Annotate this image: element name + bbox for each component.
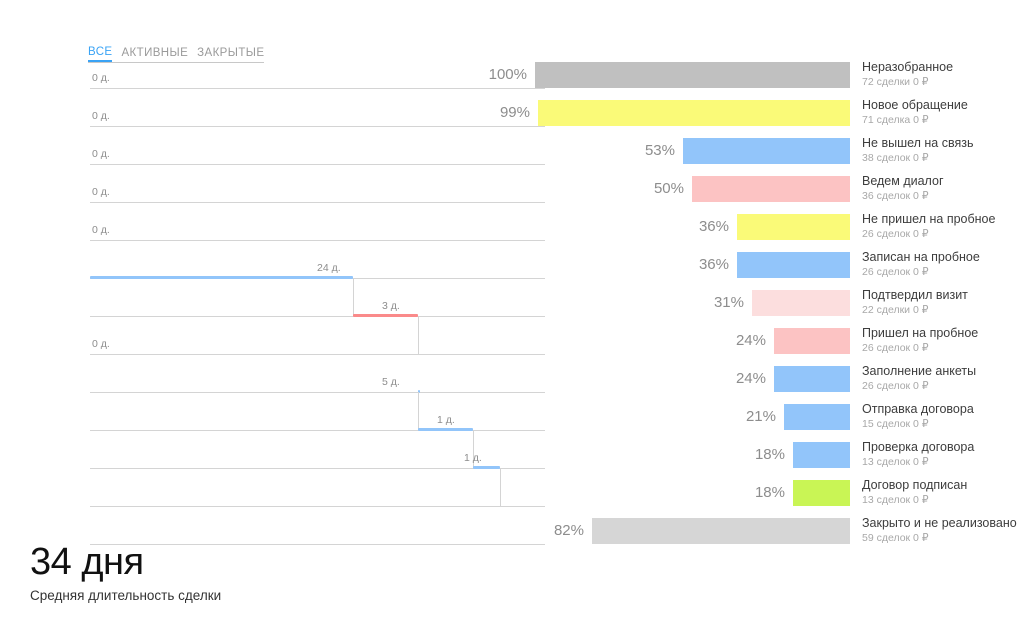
stage-deal-count: 22 сделки 0 ₽: [862, 304, 1024, 317]
row-baseline: [90, 126, 545, 127]
stage-name: Не вышел на связь: [862, 136, 1024, 151]
stage-label-group[interactable]: Записан на пробное26 сделок 0 ₽: [862, 250, 1024, 279]
stage-label-group[interactable]: Подтвердил визит22 сделки 0 ₽: [862, 288, 1024, 317]
stage-deal-count: 26 сделок 0 ₽: [862, 266, 1024, 279]
row-baseline: [90, 506, 545, 507]
stage-label-group[interactable]: Заполнение анкеты26 сделок 0 ₽: [862, 364, 1024, 393]
stage-name: Договор подписан: [862, 478, 1024, 493]
stage-deal-count: 36 сделок 0 ₽: [862, 190, 1024, 203]
conversion-percent: 100%: [473, 66, 527, 84]
row-baseline: [90, 240, 545, 241]
row-baseline: [90, 430, 545, 431]
duration-segment: [353, 314, 418, 317]
average-deal-duration-value: 34 дня: [30, 540, 221, 584]
average-deal-duration-label: Средняя длительность сделки: [30, 587, 221, 605]
stage-label-group[interactable]: Не пришел на пробное26 сделок 0 ₽: [862, 212, 1024, 241]
funnel-row[interactable]: 0 д.50%Ведем диалог36 сделок 0 ₽: [0, 172, 1024, 210]
stage-name: Закрыто и не реализовано: [862, 516, 1024, 531]
stage-name: Новое обращение: [862, 98, 1024, 113]
row-duration-label: 24 д.: [317, 262, 341, 274]
stage-deal-count: 26 сделок 0 ₽: [862, 342, 1024, 355]
conversion-percent: 18%: [731, 484, 785, 502]
row-duration-label: 3 д.: [382, 300, 400, 312]
funnel-row[interactable]: 0 д.24%Пришел на пробное26 сделок 0 ₽: [0, 324, 1024, 362]
conversion-bar[interactable]: [784, 404, 850, 430]
funnel-chart: 0 д.100%Неразобранное72 сделки 0 ₽0 д.99…: [0, 58, 1024, 528]
row-duration-label: 0 д.: [92, 148, 110, 160]
row-duration-label: 0 д.: [92, 186, 110, 198]
funnel-row[interactable]: 3 д.31%Подтвердил визит22 сделки 0 ₽: [0, 286, 1024, 324]
conversion-percent: 36%: [675, 256, 729, 274]
conversion-percent: 24%: [712, 370, 766, 388]
conversion-bar[interactable]: [692, 176, 850, 202]
row-duration-label: 1 д.: [464, 452, 482, 464]
conversion-bar[interactable]: [592, 518, 850, 544]
conversion-percent: 36%: [675, 218, 729, 236]
duration-segment: [473, 466, 500, 469]
row-duration-label: 0 д.: [92, 110, 110, 122]
stage-label-group[interactable]: Договор подписан13 сделок 0 ₽: [862, 478, 1024, 507]
row-duration-label: 0 д.: [92, 72, 110, 84]
row-baseline: [90, 392, 545, 393]
conversion-bar[interactable]: [535, 62, 850, 88]
stage-label-group[interactable]: Проверка договора13 сделок 0 ₽: [862, 440, 1024, 469]
funnel-row[interactable]: 18%Договор подписан13 сделок 0 ₽: [0, 476, 1024, 514]
conversion-percent: 31%: [690, 294, 744, 312]
summary-block: 34 дня Средняя длительность сделки: [30, 540, 221, 605]
stage-deal-count: 13 сделок 0 ₽: [862, 456, 1024, 469]
conversion-bar[interactable]: [737, 214, 850, 240]
conversion-percent: 50%: [630, 180, 684, 198]
duration-segment: [418, 428, 473, 431]
stage-label-group[interactable]: Закрыто и не реализовано59 сделок 0 ₽: [862, 516, 1024, 545]
stage-name: Отправка договора: [862, 402, 1024, 417]
stage-deal-count: 59 сделок 0 ₽: [862, 532, 1024, 545]
stage-name: Заполнение анкеты: [862, 364, 1024, 379]
stage-name: Подтвердил визит: [862, 288, 1024, 303]
stage-name: Проверка договора: [862, 440, 1024, 455]
stage-deal-count: 13 сделок 0 ₽: [862, 494, 1024, 507]
row-baseline: [90, 316, 545, 317]
conversion-percent: 82%: [530, 522, 584, 540]
stage-deal-count: 71 сделка 0 ₽: [862, 114, 1024, 127]
stage-deal-count: 15 сделок 0 ₽: [862, 418, 1024, 431]
funnel-row[interactable]: 0 д.100%Неразобранное72 сделки 0 ₽: [0, 58, 1024, 96]
stage-name: Не пришел на пробное: [862, 212, 1024, 227]
conversion-bar[interactable]: [737, 252, 850, 278]
funnel-row[interactable]: 24 д.36%Записан на пробное26 сделок 0 ₽: [0, 248, 1024, 286]
row-duration-label: 0 д.: [92, 338, 110, 350]
row-baseline: [90, 202, 545, 203]
funnel-row[interactable]: 5 д.24%Заполнение анкеты26 сделок 0 ₽: [0, 362, 1024, 400]
funnel-row[interactable]: 0 д.99%Новое обращение71 сделка 0 ₽: [0, 96, 1024, 134]
row-duration-label: 0 д.: [92, 224, 110, 236]
row-duration-label: 1 д.: [437, 414, 455, 426]
stage-deal-count: 26 сделок 0 ₽: [862, 228, 1024, 241]
conversion-percent: 21%: [722, 408, 776, 426]
stage-label-group[interactable]: Неразобранное72 сделки 0 ₽: [862, 60, 1024, 89]
conversion-bar[interactable]: [793, 442, 850, 468]
conversion-bar[interactable]: [793, 480, 850, 506]
stage-label-group[interactable]: Пришел на пробное26 сделок 0 ₽: [862, 326, 1024, 355]
row-duration-label: 5 д.: [382, 376, 400, 388]
stage-label-group[interactable]: Новое обращение71 сделка 0 ₽: [862, 98, 1024, 127]
row-baseline: [90, 88, 545, 89]
stage-label-group[interactable]: Отправка договора15 сделок 0 ₽: [862, 402, 1024, 431]
stage-deal-count: 26 сделок 0 ₽: [862, 380, 1024, 393]
conversion-bar[interactable]: [683, 138, 850, 164]
conversion-percent: 99%: [476, 104, 530, 122]
conversion-percent: 18%: [731, 446, 785, 464]
stage-deal-count: 38 сделок 0 ₽: [862, 152, 1024, 165]
stage-name: Записан на пробное: [862, 250, 1024, 265]
funnel-row[interactable]: 0 д.53%Не вышел на связь38 сделок 0 ₽: [0, 134, 1024, 172]
conversion-percent: 53%: [621, 142, 675, 160]
row-baseline: [90, 354, 545, 355]
stage-deal-count: 72 сделки 0 ₽: [862, 76, 1024, 89]
funnel-row[interactable]: 0 д.36%Не пришел на пробное26 сделок 0 ₽: [0, 210, 1024, 248]
conversion-bar[interactable]: [538, 100, 850, 126]
stage-name: Неразобранное: [862, 60, 1024, 75]
stage-label-group[interactable]: Не вышел на связь38 сделок 0 ₽: [862, 136, 1024, 165]
duration-segment: [90, 276, 353, 279]
stage-label-group[interactable]: Ведем диалог36 сделок 0 ₽: [862, 174, 1024, 203]
stage-name: Ведем диалог: [862, 174, 1024, 189]
conversion-bar[interactable]: [774, 328, 850, 354]
funnel-row[interactable]: 1 д.18%Проверка договора13 сделок 0 ₽: [0, 438, 1024, 476]
conversion-bar[interactable]: [752, 290, 850, 316]
funnel-row[interactable]: 1 д.21%Отправка договора15 сделок 0 ₽: [0, 400, 1024, 438]
conversion-percent: 24%: [712, 332, 766, 350]
conversion-bar[interactable]: [774, 366, 850, 392]
stage-name: Пришел на пробное: [862, 326, 1024, 341]
row-baseline: [90, 164, 545, 165]
